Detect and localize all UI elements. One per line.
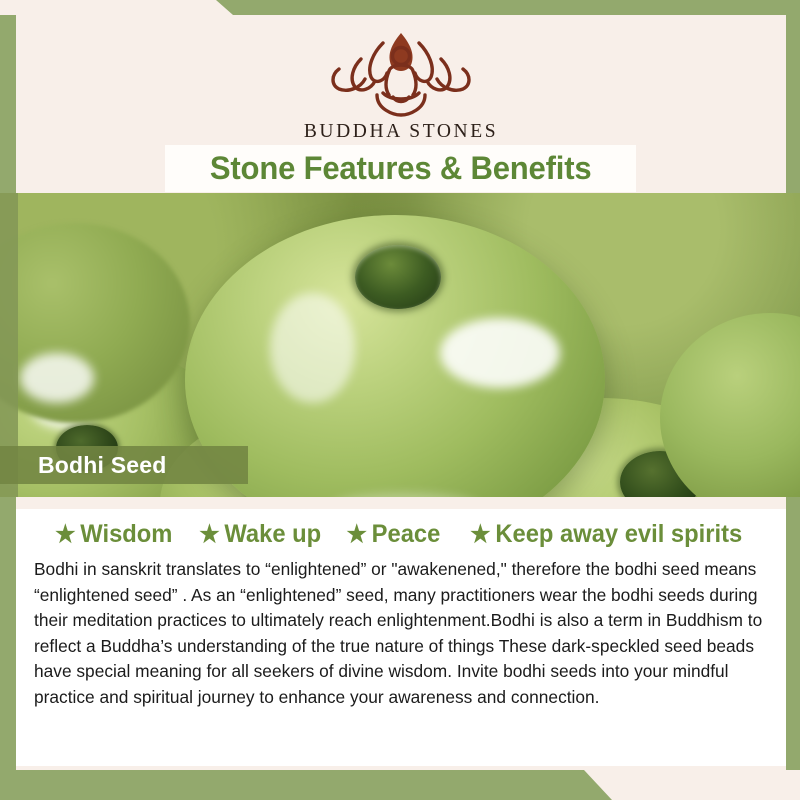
benefit-item: ★ Keep away evil spirits	[470, 520, 742, 549]
benefit-label: Wake up	[224, 520, 321, 549]
brand-logo: BUDDHA STONES	[16, 23, 786, 143]
product-photo: Bodhi Seed	[0, 193, 800, 497]
content-panel: ★ Wisdom ★ Wake up ★ Peace ★ Keep away e…	[16, 509, 786, 766]
benefit-label: Keep away evil spirits	[496, 520, 743, 549]
header-section: BUDDHA STONES Stone Features & Benefits	[16, 15, 786, 193]
description-text: Bodhi in sanskrit translates to “enlight…	[34, 557, 765, 711]
benefits-list: ★ Wisdom ★ Wake up ★ Peace ★ Keep away e…	[16, 520, 786, 549]
page-title: Stone Features & Benefits	[210, 150, 592, 187]
frame-top-accent	[0, 0, 800, 15]
lotus-meditation-figure-icon	[317, 23, 485, 119]
seed-label-banner: Bodhi Seed	[0, 446, 248, 484]
benefit-item: ★ Wake up	[199, 520, 321, 549]
title-band: Stone Features & Benefits	[165, 145, 636, 192]
star-icon: ★	[470, 523, 490, 547]
infographic-page: BUDDHA STONES Stone Features & Benefits	[0, 0, 800, 800]
benefit-label: Wisdom	[81, 520, 173, 549]
benefit-item: ★ Wisdom	[56, 520, 173, 549]
star-icon: ★	[199, 523, 219, 547]
benefit-item: ★ Peace	[347, 520, 441, 549]
star-icon: ★	[56, 523, 76, 547]
frame-bottom-accent	[0, 770, 800, 800]
benefit-label: Peace	[372, 520, 441, 549]
star-icon: ★	[347, 523, 367, 547]
seed-label-text: Bodhi Seed	[38, 452, 167, 479]
description-block: Bodhi in sanskrit translates to “enlight…	[34, 557, 765, 711]
brand-name: BUDDHA STONES	[16, 121, 786, 143]
